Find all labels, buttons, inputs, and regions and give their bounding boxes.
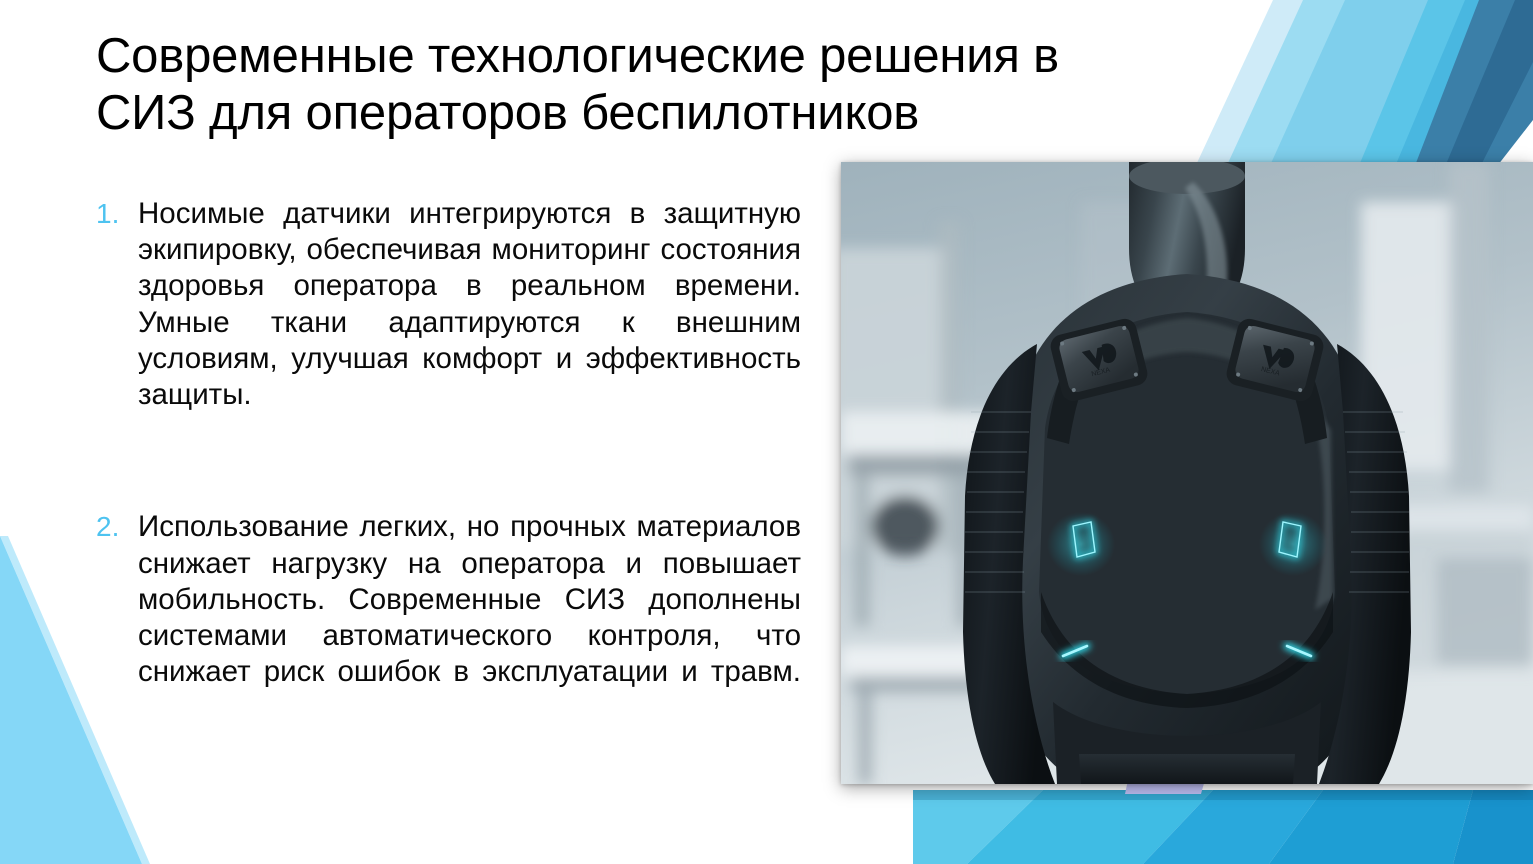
bottom-band-3	[1143, 790, 1323, 864]
list-item-number: 2.	[96, 509, 138, 545]
smart-vest-illustration: NEXA NEXA	[841, 162, 1533, 784]
list-item-number: 1.	[96, 196, 138, 232]
page-title: Современные технологические решения в СИ…	[96, 28, 1096, 142]
bottom-band-shadow	[913, 790, 1533, 800]
bottom-band-1	[913, 790, 1043, 864]
list-item-text: Носимые датчики интегрируются в защитную…	[138, 196, 801, 449]
list-item-text: Использование легких, но прочных материа…	[138, 509, 801, 726]
bottom-band-4	[1269, 790, 1473, 864]
bottom-band-2	[967, 790, 1213, 864]
bullet-list: 1. Носимые датчики интегрируются в защит…	[96, 196, 801, 787]
vest-belt	[1079, 754, 1295, 784]
list-item: 2. Использование легких, но прочных мате…	[96, 509, 801, 726]
list-item: 1. Носимые датчики интегрируются в защит…	[96, 196, 801, 449]
presentation-slide: NEXA NEXA	[0, 0, 1533, 864]
bottom-band-5	[1453, 790, 1533, 864]
slide-image: NEXA NEXA	[841, 162, 1533, 784]
